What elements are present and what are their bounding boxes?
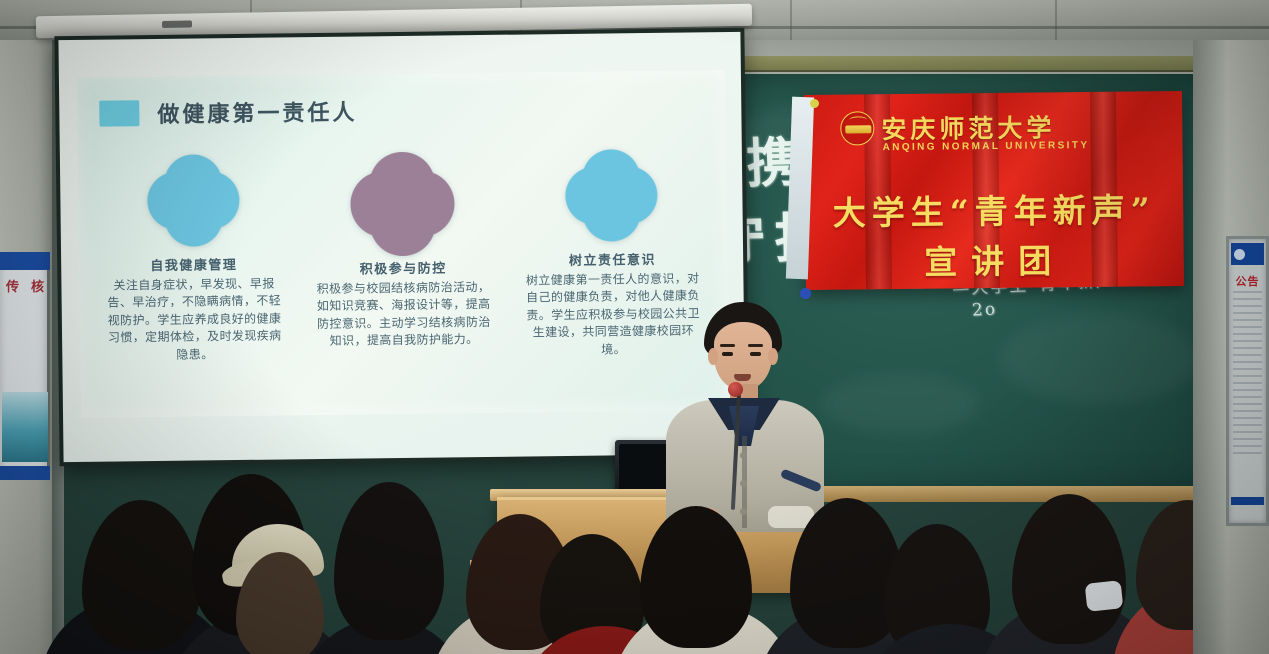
left-poster-footer (0, 466, 50, 480)
slide-title-row: 做健康第一责任人 (99, 95, 357, 130)
left-poster-image (2, 392, 48, 462)
left-poster-board: 传 核 (0, 252, 50, 480)
column-heading: 自我健康管理 (150, 254, 237, 274)
left-poster-header (0, 252, 50, 270)
ceiling-panel-line (790, 0, 792, 44)
slide-title-chip-icon (99, 100, 139, 126)
presenter-eye-right (750, 352, 761, 356)
notice-board-header (1231, 243, 1264, 265)
slide-column-2: 积极参与防控 积极参与校园结核病防治活动，如知识竞赛、海报设计等，提高防控意识。… (297, 151, 509, 406)
presentation-slide: 做健康第一责任人 自我健康管理 关注自身症状，早发现、早报告、早治疗，不隐瞒病情… (77, 70, 729, 418)
projection-screen: 做健康第一责任人 自我健康管理 关注自身症状，早发现、早报告、早治疗，不隐瞒病情… (58, 32, 745, 462)
column-heading: 积极参与防控 (360, 257, 447, 277)
presenter-jacket-button (740, 452, 747, 459)
slide-columns: 自我健康管理 关注自身症状，早发现、早报告、早治疗，不隐瞒病情，不轻视防护。学生… (88, 148, 719, 408)
university-name-en: ANQING NORMAL UNIVERSITY (882, 140, 1089, 153)
presenter-brow-left (720, 344, 735, 347)
university-seal-icon (840, 111, 874, 145)
presenter-eye-left (722, 352, 733, 356)
right-notice-board: 公告 (1226, 236, 1269, 526)
blackboard-date: 2o (971, 299, 997, 320)
blackboard-top-trim (700, 56, 1220, 72)
chalk-smudge (1000, 314, 1200, 404)
banner-title-line1: 大学生“青年新声” (805, 183, 1183, 235)
presenter-brow-right (748, 344, 763, 347)
column-heading: 树立责任意识 (569, 249, 656, 269)
left-poster-glyphs: 传 核 (0, 276, 50, 295)
presenter (660, 300, 830, 530)
left-poster-glyph-1: 传 (6, 276, 19, 295)
presenter-mouth (734, 374, 751, 381)
quatrefoil-shape-2 (350, 151, 455, 256)
banner-pin-bottom (800, 288, 811, 299)
banner-title-line2: 宣讲团 (805, 233, 1183, 285)
notice-board-text-lines (1233, 291, 1262, 459)
banner-pin-top (810, 99, 819, 108)
chalk-smudge (820, 374, 980, 434)
presenter-jacket-button (740, 508, 747, 515)
face-mask (1085, 580, 1124, 612)
slide-column-1: 自我健康管理 关注自身症状，早发现、早报告、早治疗，不隐瞒病情，不轻视防护。学生… (88, 153, 300, 408)
audience-head (334, 482, 444, 640)
audience-head (1012, 494, 1126, 644)
column-body: 关注自身症状，早发现、早报告、早治疗，不隐瞒病情，不轻视防护。学生应养成良好的健… (94, 275, 295, 364)
presenter-jacket-button (740, 480, 747, 487)
presenter-ear-right (768, 348, 778, 365)
microphone-head (728, 382, 743, 397)
quatrefoil-shape-1 (147, 154, 240, 247)
roller-label (162, 21, 192, 29)
notice-board-title: 公告 (1229, 273, 1266, 289)
audience-head (82, 500, 200, 650)
red-banner: 安庆师范大学 ANQING NORMAL UNIVERSITY 大学生“青年新声… (804, 91, 1184, 290)
notice-board-footer (1231, 497, 1264, 505)
slide-title: 做健康第一责任人 (157, 95, 357, 129)
left-poster-glyph-2: 核 (31, 276, 44, 295)
lecture-hall-photo: 传 核 携手防“核” 守护健康校园 —大学生“青年新声” 2o 安庆师范大学 (0, 0, 1269, 654)
quatrefoil-shape-3 (565, 149, 658, 242)
presenter-ear-left (708, 348, 718, 365)
projection-screen-frame: 做健康第一责任人 自我健康管理 关注自身症状，早发现、早报告、早治疗，不隐瞒病情… (54, 28, 749, 466)
column-body: 积极参与校园结核病防治活动，如知识竞赛、海报设计等，提高防控意识。主动学习结核病… (303, 279, 504, 351)
ceiling-panel-line (1055, 0, 1057, 44)
notice-board-logo-icon (1234, 249, 1245, 260)
